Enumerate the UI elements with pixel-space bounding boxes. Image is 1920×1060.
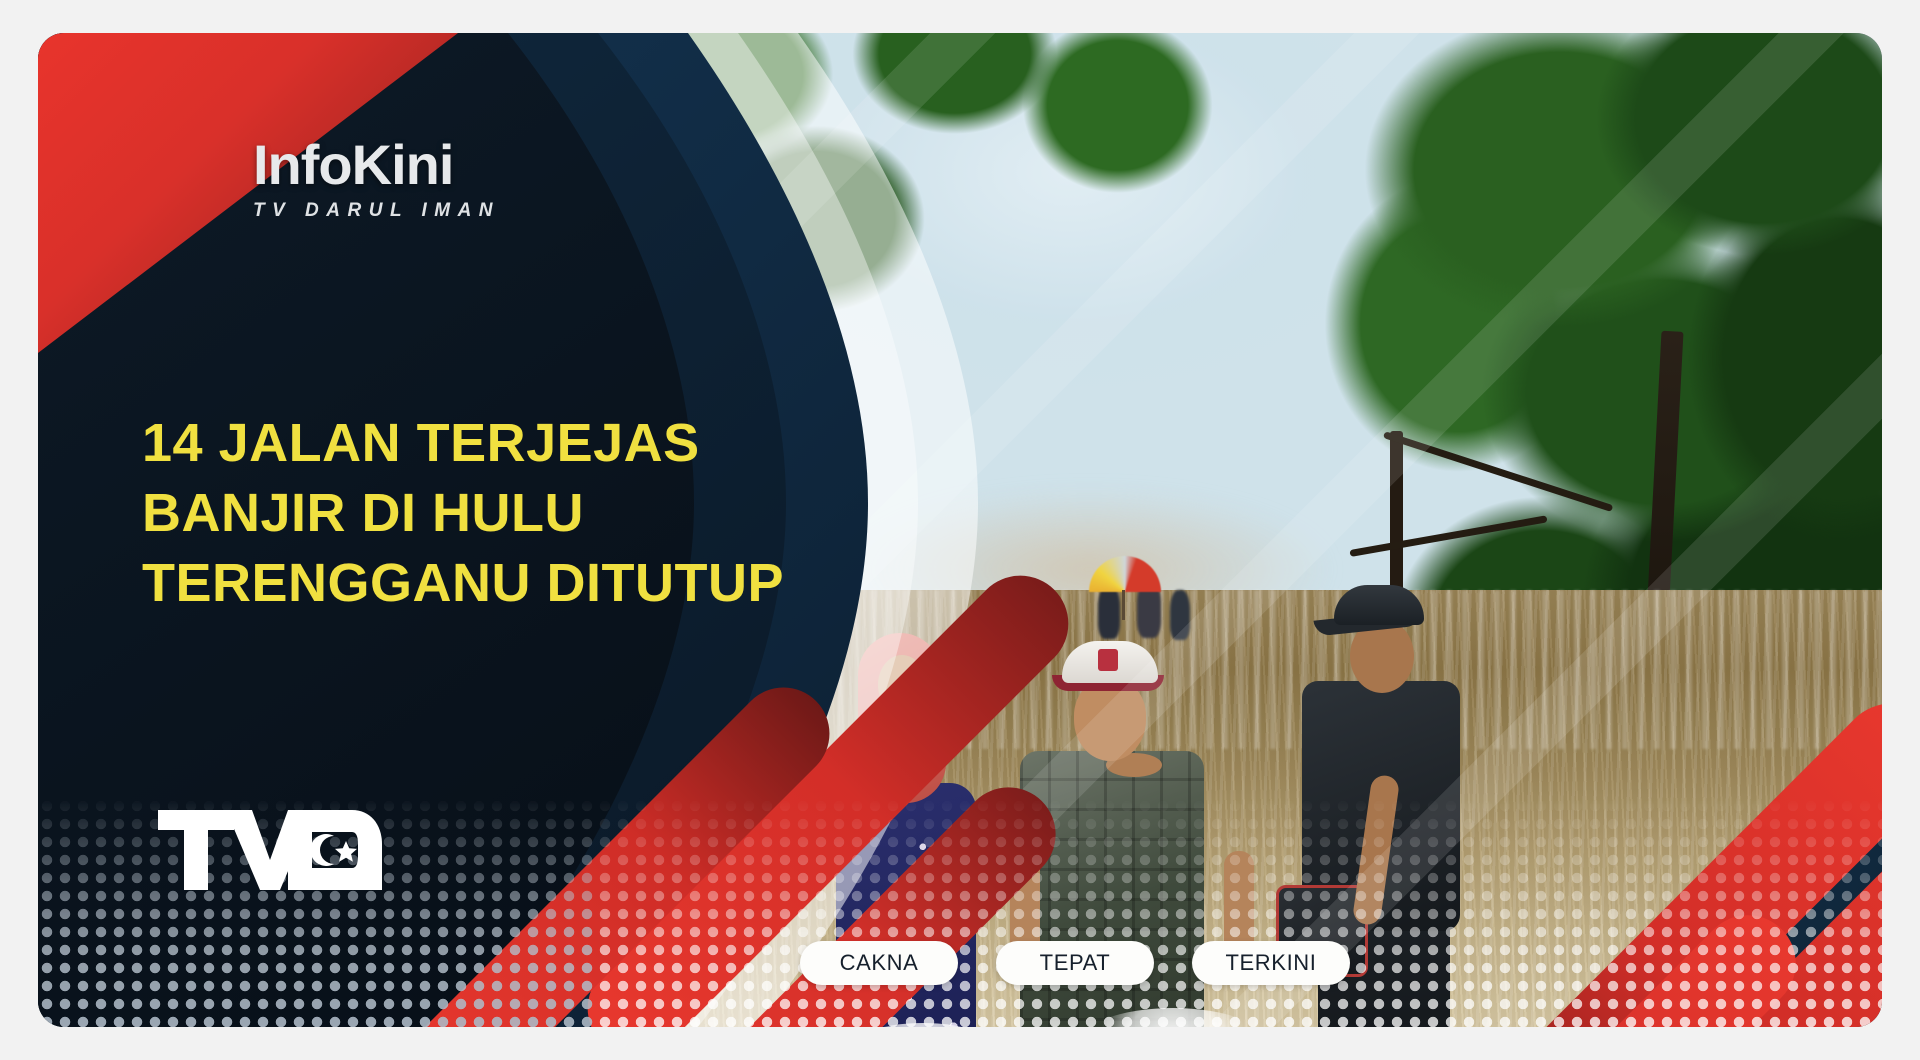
tagline-pill-row: CAKNA TEPAT TERKINI: [38, 941, 1882, 985]
tvdi-logo-icon: [156, 804, 386, 896]
man-cap: [1334, 585, 1424, 625]
headline-text: 14 JALAN TERJEJAS BANJIR DI HULU TERENGG…: [142, 408, 802, 619]
pill-terkini[interactable]: TERKINI: [1192, 941, 1350, 985]
distant-person: [1170, 590, 1190, 640]
news-card: InfoKini TV DARUL IMAN 14 JALAN TERJEJAS…: [38, 33, 1882, 1027]
pill-tepat[interactable]: TEPAT: [996, 941, 1154, 985]
distant-person: [1098, 585, 1120, 639]
umbrella-pole: [1122, 590, 1125, 620]
station-logo: [156, 804, 386, 901]
channel-logo: InfoKini TV DARUL IMAN: [253, 137, 500, 222]
boy-face: [1074, 679, 1146, 761]
boy-cap-logo: [1098, 649, 1118, 671]
logo-wordmark: InfoKini: [253, 137, 500, 193]
logo-tagline: TV DARUL IMAN: [253, 200, 500, 222]
pill-cakna[interactable]: CAKNA: [800, 941, 958, 985]
